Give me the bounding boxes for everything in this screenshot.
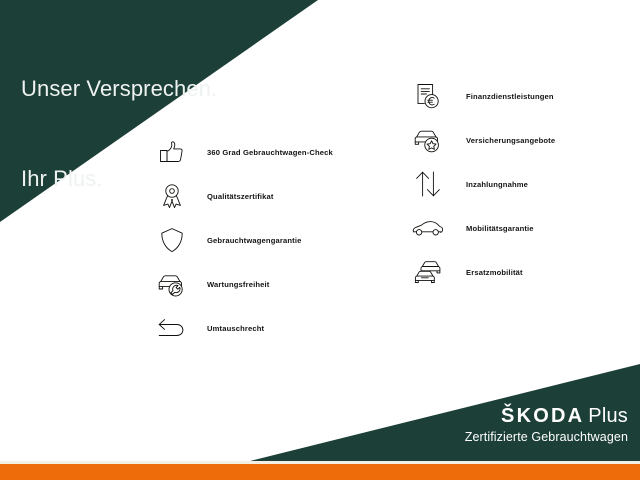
- feature-label: Gebrauchtwagengarantie: [207, 236, 301, 245]
- hairline-above-orange: [0, 461, 640, 464]
- feature-label: 360 Grad Gebrauchtwagen-Check: [207, 148, 333, 157]
- thumbs-up-icon: [150, 130, 194, 174]
- two-cars-icon: [406, 250, 450, 294]
- feature-label: Mobilitätsgarantie: [466, 224, 534, 233]
- feature-item-ersatzmobilitaet: Ersatzmobilität: [406, 250, 636, 294]
- feature-label: Finanzdienstleistungen: [466, 92, 554, 101]
- award-ribbon-icon: [150, 174, 194, 218]
- skoda-plus-promise-banner: Unser Versprechen. Ihr Plus. 360 Grad Ge…: [0, 0, 640, 480]
- feature-item-gebrauchtwagen-check: 360 Grad Gebrauchtwagen-Check: [150, 130, 400, 174]
- feature-label: Qualitätszertifikat: [207, 192, 274, 201]
- car-wrench-icon: [150, 262, 194, 306]
- feature-label: Versicherungsangebote: [466, 136, 555, 145]
- plus-wordmark: Plus: [588, 405, 628, 427]
- feature-item-qualitaetszertifikat: Qualitätszertifikat: [150, 174, 400, 218]
- feature-list-left: 360 Grad Gebrauchtwagen-Check Qualitätsz…: [150, 130, 400, 350]
- feature-item-mobilitaetsgarantie: Mobilitätsgarantie: [406, 206, 636, 250]
- feature-label: Wartungsfreiheit: [207, 280, 269, 289]
- feature-item-wartungsfreiheit: Wartungsfreiheit: [150, 262, 400, 306]
- car-side-icon: [406, 206, 450, 250]
- document-euro-icon: [406, 74, 450, 118]
- feature-item-finanzdienstleistungen: Finanzdienstleistungen: [406, 74, 636, 118]
- skoda-wordmark: ŠKODA: [501, 405, 584, 427]
- feature-item-umtauschrecht: Umtauschrecht: [150, 306, 400, 350]
- feature-item-gebrauchtwagengarantie: Gebrauchtwagengarantie: [150, 218, 400, 262]
- return-arrow-icon: [150, 306, 194, 350]
- feature-label: Ersatzmobilität: [466, 268, 523, 277]
- feature-label: Inzahlungnahme: [466, 180, 528, 189]
- up-down-arrows-icon: [406, 162, 450, 206]
- feature-item-inzahlungnahme: Inzahlungnahme: [406, 162, 636, 206]
- orange-bottom-bar: [0, 464, 640, 480]
- feature-item-versicherungsangebote: Versicherungsangebote: [406, 118, 636, 162]
- headline-line-1: Unser Versprechen.: [21, 74, 217, 104]
- car-star-icon: [406, 118, 450, 162]
- feature-label: Umtauschrecht: [207, 324, 264, 333]
- logo-subtitle: Zertifizierte Gebrauchtwagen: [465, 429, 628, 445]
- logo-wordmark-row: ŠKODAPlus: [465, 405, 628, 428]
- feature-list-right: Finanzdienstleistungen Versicherungsange…: [406, 74, 636, 294]
- shield-icon: [150, 218, 194, 262]
- skoda-plus-logo: ŠKODAPlus Zertifizierte Gebrauchtwagen: [465, 405, 628, 445]
